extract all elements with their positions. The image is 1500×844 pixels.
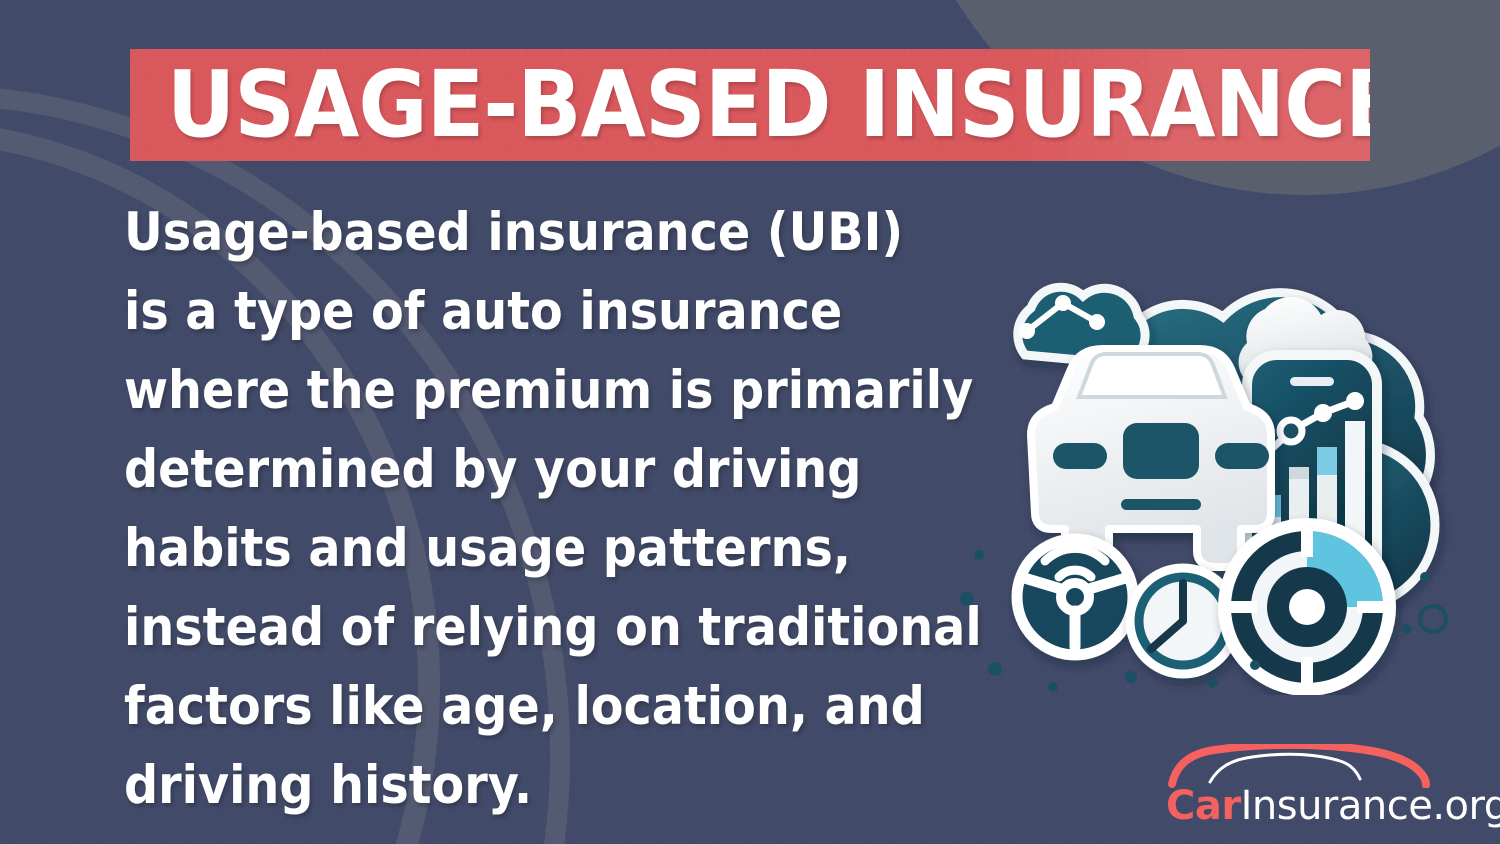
logo-text-car: Car — [1166, 783, 1241, 829]
logo-wordmark: CarInsurance.org — [1166, 786, 1500, 826]
body-line-4: determined by your driving — [124, 430, 1004, 509]
body-line-6: instead of relying on traditional — [124, 588, 1004, 667]
poster-canvas: USAGE-BASED INSURANCE Usage-based insura… — [0, 0, 1500, 844]
body-line-8: driving history. — [124, 746, 1004, 825]
phone-speaker — [1290, 377, 1334, 386]
page-title: USAGE-BASED INSURANCE — [130, 59, 1370, 151]
title-banner: USAGE-BASED INSURANCE — [130, 49, 1370, 161]
body-line-7: factors like age, location, and — [124, 667, 1004, 746]
body-line-3: where the premium is primarily — [124, 351, 1004, 430]
body-line-2: is a type of auto insurance — [124, 272, 1004, 351]
usage-based-insurance-illustration — [955, 225, 1465, 695]
body-line-5: habits and usage patterns, — [124, 509, 1004, 588]
carinsurance-logo[interactable]: CarInsurance.org — [1166, 744, 1476, 828]
logo-text-insurance-org: Insurance.org — [1241, 783, 1500, 829]
steering-wheel-signal — [1017, 539, 1133, 655]
body-paragraph: Usage-based insurance (UBI) is a type of… — [124, 193, 1004, 825]
car-silhouette-icon — [1166, 744, 1466, 788]
gauge-dial-icon — [1223, 523, 1391, 691]
body-line-1: Usage-based insurance (UBI) — [124, 193, 1004, 272]
